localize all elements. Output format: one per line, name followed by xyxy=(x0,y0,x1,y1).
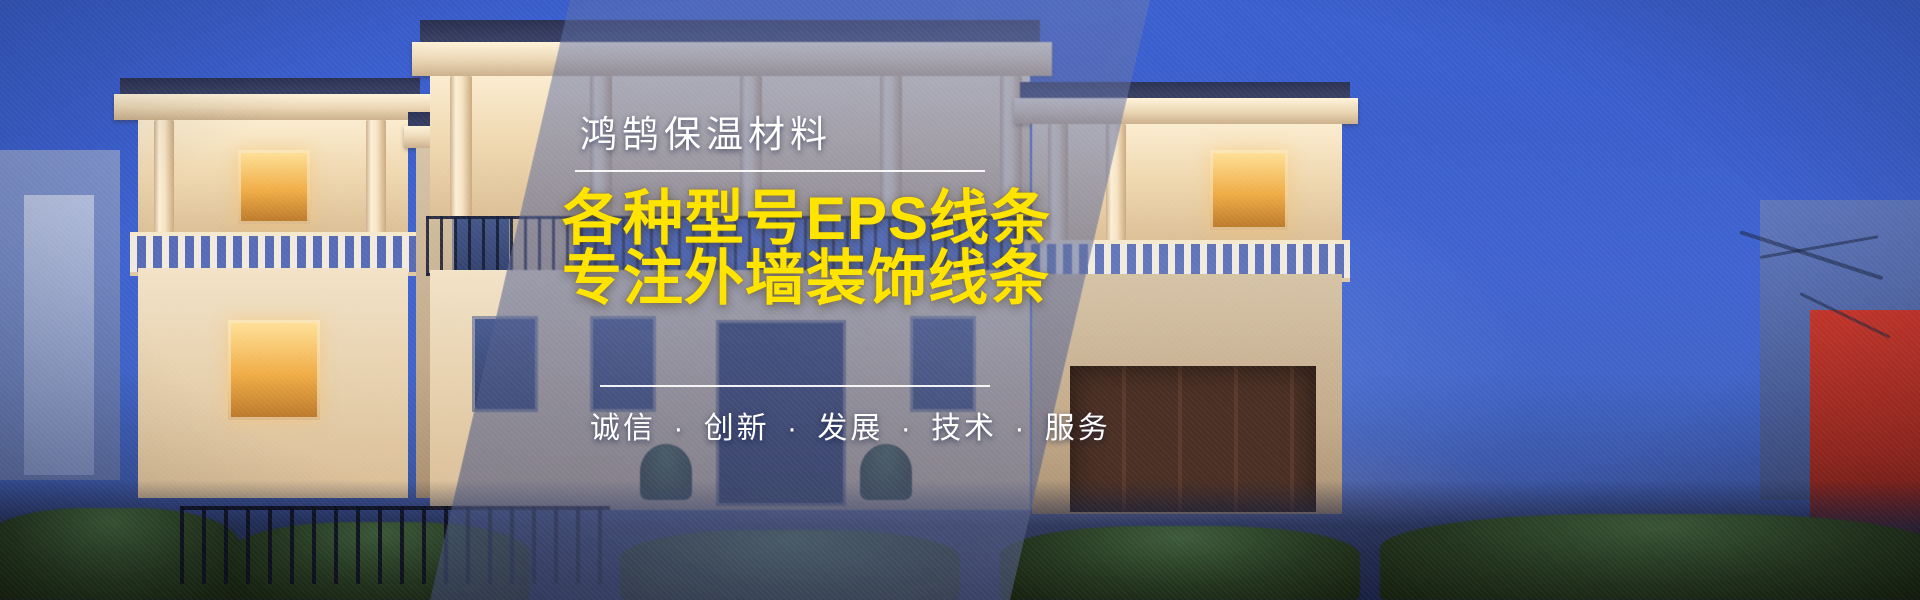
left-wing-column-1 xyxy=(154,120,174,232)
banner-copy: 鸿鹄保温材料 各种型号EPS线条 专注外墙装饰线条 诚信 · 创新 · 发展 ·… xyxy=(560,0,1080,600)
promo-banner: 鸿鹄保温材料 各种型号EPS线条 专注外墙装饰线条 诚信 · 创新 · 发展 ·… xyxy=(0,0,1920,600)
tagline-separator-2: · xyxy=(895,412,920,445)
left-wing-window-lower xyxy=(228,320,320,420)
tagline-item-1: 创新 xyxy=(704,412,770,445)
tagline-item-4: 服务 xyxy=(1045,412,1111,445)
tagline-item-3: 技术 xyxy=(931,412,997,445)
tagline-item-2: 发展 xyxy=(817,412,883,445)
left-wing-window-upper xyxy=(238,150,310,224)
hedge-right xyxy=(1380,514,1920,600)
headline-line-1: 各种型号EPS线条 xyxy=(562,188,1051,250)
right-wing-window-upper xyxy=(1210,150,1288,230)
divider-top xyxy=(575,170,985,172)
brand-name: 鸿鹄保温材料 xyxy=(580,104,832,158)
tagline-separator-1: · xyxy=(781,412,806,445)
left-background-building-2 xyxy=(24,195,94,475)
tagline: 诚信 · 创新 · 发展 · 技术 · 服务 xyxy=(590,403,1111,447)
center-column-1 xyxy=(450,76,472,216)
tagline-separator-0: · xyxy=(667,412,692,445)
left-wing-column-2 xyxy=(366,120,386,232)
left-wing-roof xyxy=(120,78,420,94)
tagline-separator-3: · xyxy=(1008,412,1033,445)
divider-bottom xyxy=(600,385,990,387)
tagline-item-0: 诚信 xyxy=(590,412,656,445)
left-wing-cornice xyxy=(114,94,430,120)
headline-line-2: 专注外墙装饰线条 xyxy=(562,248,1050,310)
